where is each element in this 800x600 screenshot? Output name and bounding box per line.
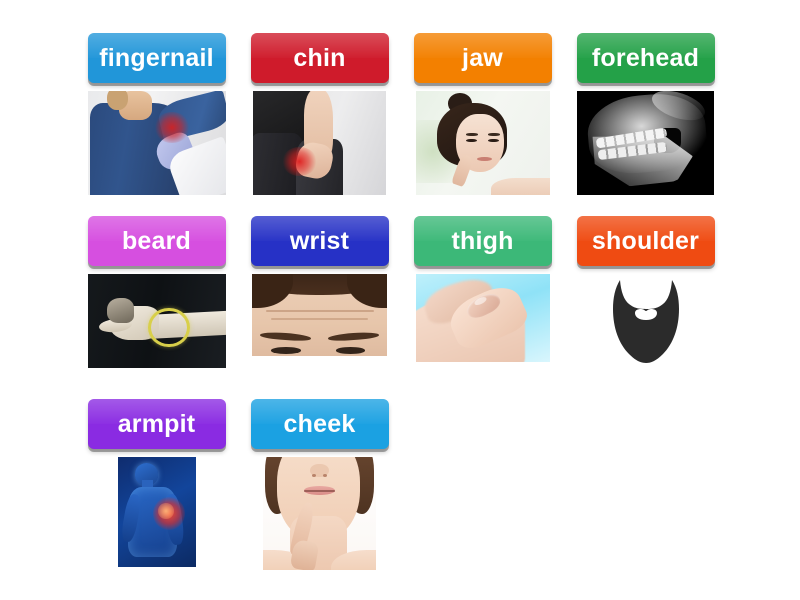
fingernail-photo-illustration xyxy=(416,274,550,362)
armpit-photo-illustration xyxy=(88,91,226,195)
image-tile-beard-icon[interactable] xyxy=(577,274,715,368)
forehead-photo-illustration xyxy=(252,274,387,356)
image-tile-fingernail-photo[interactable] xyxy=(416,274,550,362)
card-cell: beard xyxy=(75,216,238,368)
shoulder-anatomy-illustration xyxy=(118,457,196,567)
card-cell: chin xyxy=(238,33,401,195)
label-button-forehead[interactable]: forehead xyxy=(577,33,715,83)
image-tile-armpit-photo[interactable] xyxy=(88,91,226,195)
label-text: jaw xyxy=(456,46,509,71)
label-text: shoulder xyxy=(586,229,705,254)
label-button-wrist[interactable]: wrist xyxy=(251,216,389,266)
thigh-photo-illustration xyxy=(253,91,386,195)
image-tile-thigh-photo[interactable] xyxy=(253,91,386,195)
label-button-jaw[interactable]: jaw xyxy=(414,33,552,83)
label-text: chin xyxy=(287,46,351,71)
jaw-xray-illustration xyxy=(577,91,714,195)
card-cell: cheek xyxy=(238,399,401,570)
beard-icon xyxy=(577,274,715,368)
image-tile-forehead-photo[interactable] xyxy=(252,274,387,356)
card-cell: armpit xyxy=(75,399,238,567)
label-text: armpit xyxy=(112,412,202,437)
card-cell: shoulder xyxy=(564,216,727,368)
label-text: thigh xyxy=(445,229,519,254)
card-cell: fingernail xyxy=(75,33,238,195)
label-button-thigh[interactable]: thigh xyxy=(414,216,552,266)
label-button-chin[interactable]: chin xyxy=(251,33,389,83)
chin-photo-illustration xyxy=(263,457,376,570)
label-text: cheek xyxy=(278,412,362,437)
label-text: fingernail xyxy=(93,46,220,71)
label-button-shoulder[interactable]: shoulder xyxy=(577,216,715,266)
label-button-beard[interactable]: beard xyxy=(88,216,226,266)
wrist-photo-illustration xyxy=(88,274,226,368)
card-cell: forehead xyxy=(564,33,727,195)
label-text: wrist xyxy=(284,229,355,254)
label-button-cheek[interactable]: cheek xyxy=(251,399,389,449)
card-cell: wrist xyxy=(238,216,401,356)
cheek-photo-illustration xyxy=(416,91,550,195)
card-cell: thigh xyxy=(401,216,564,362)
image-tile-cheek-photo[interactable] xyxy=(416,91,550,195)
image-tile-wrist-photo[interactable] xyxy=(88,274,226,368)
match-up-board: fingernail chin jaw xyxy=(0,0,800,600)
label-button-fingernail[interactable]: fingernail xyxy=(88,33,226,83)
label-text: forehead xyxy=(586,46,705,71)
image-tile-chin-photo[interactable] xyxy=(263,457,376,570)
label-text: beard xyxy=(116,229,197,254)
image-tile-jaw-xray[interactable] xyxy=(577,91,714,195)
label-button-armpit[interactable]: armpit xyxy=(88,399,226,449)
card-cell: jaw xyxy=(401,33,564,195)
image-tile-shoulder-anatomy[interactable] xyxy=(118,457,196,567)
